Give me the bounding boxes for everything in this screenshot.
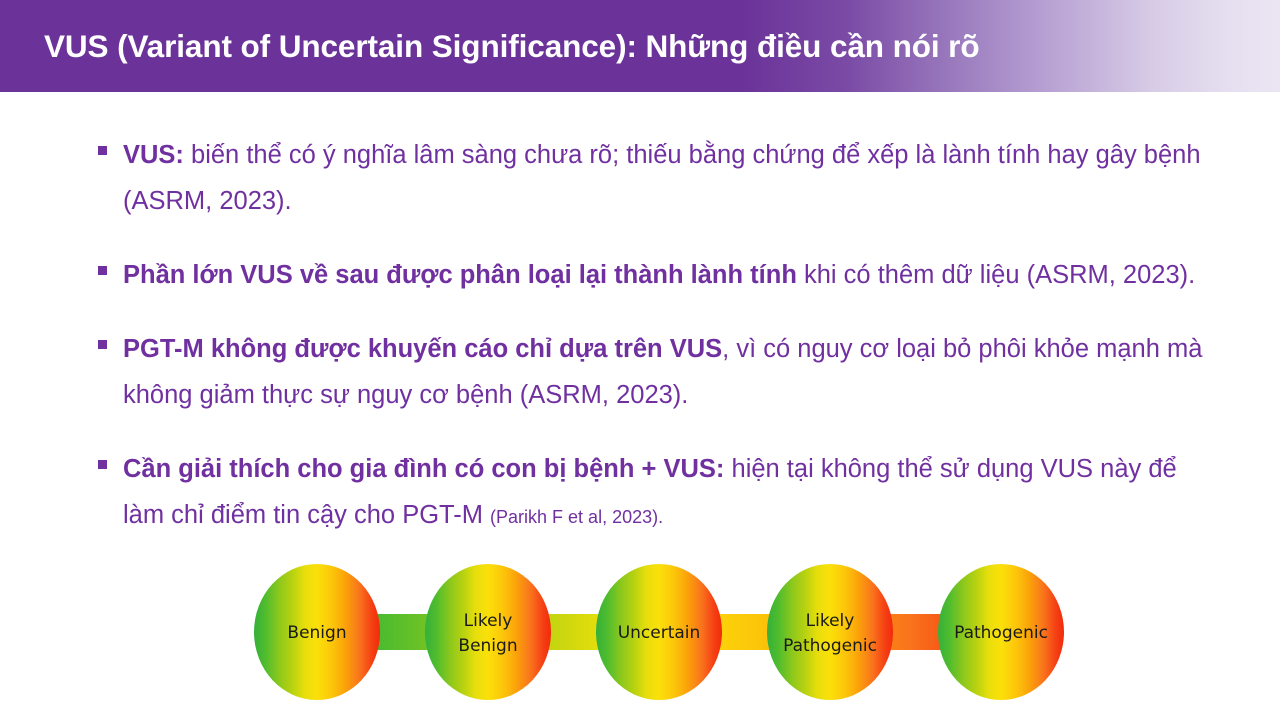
spectrum-label-benign: Benign [287, 623, 346, 643]
list-item: Cần giải thích cho gia đình có con bị bệ… [98, 446, 1208, 540]
spectrum-label-likely-benign-1: Likely [464, 611, 513, 631]
slide: VUS (Variant of Uncertain Significance):… [0, 0, 1280, 720]
variant-classification-spectrum: Benign Likely Benign Uncertain Likely Pa… [232, 558, 1084, 708]
bullet-text-4: Cần giải thích cho gia đình có con bị bệ… [123, 446, 1208, 540]
bullet-rest-1: biến thể có ý nghĩa lâm sàng chưa rõ; th… [123, 141, 1201, 215]
bullet-rest-2: khi có thêm dữ liệu (ASRM, 2023). [797, 261, 1195, 289]
list-item: Phần lớn VUS về sau được phân loại lại t… [98, 252, 1208, 300]
spectrum-node-likely-benign [425, 564, 551, 700]
bullet-lead-1: VUS: [123, 141, 184, 169]
list-item: PGT-M không được khuyến cáo chỉ dựa trên… [98, 326, 1208, 420]
square-bullet-icon [98, 340, 107, 349]
spectrum-label-likely-pathogenic-2: Pathogenic [783, 636, 877, 656]
square-bullet-icon [98, 460, 107, 469]
slide-header-bar: VUS (Variant of Uncertain Significance):… [0, 0, 1280, 92]
spectrum-svg: Benign Likely Benign Uncertain Likely Pa… [232, 558, 1084, 708]
bullet-lead-3: PGT-M không được khuyến cáo chỉ dựa trên… [123, 335, 722, 363]
square-bullet-icon [98, 266, 107, 275]
bullet-text-3: PGT-M không được khuyến cáo chỉ dựa trên… [123, 326, 1208, 420]
spectrum-label-pathogenic: Pathogenic [954, 623, 1048, 643]
bullet-text-1: VUS: biến thể có ý nghĩa lâm sàng chưa r… [123, 132, 1208, 226]
bullet-list: VUS: biến thể có ý nghĩa lâm sàng chưa r… [98, 132, 1208, 566]
spectrum-label-likely-pathogenic-1: Likely [806, 611, 855, 631]
square-bullet-icon [98, 146, 107, 155]
spectrum-label-likely-benign-2: Benign [458, 636, 517, 656]
bullet-text-2: Phần lớn VUS về sau được phân loại lại t… [123, 252, 1208, 300]
page-title: VUS (Variant of Uncertain Significance):… [44, 0, 979, 92]
bullet-lead-2: Phần lớn VUS về sau được phân loại lại t… [123, 261, 797, 289]
bullet-lead-4: Cần giải thích cho gia đình có con bị bệ… [123, 455, 724, 483]
spectrum-label-uncertain: Uncertain [618, 623, 701, 643]
list-item: VUS: biến thể có ý nghĩa lâm sàng chưa r… [98, 132, 1208, 226]
bullet-citation-4: (Parikh F et al, 2023). [490, 507, 663, 527]
spectrum-node-likely-pathogenic [767, 564, 893, 700]
